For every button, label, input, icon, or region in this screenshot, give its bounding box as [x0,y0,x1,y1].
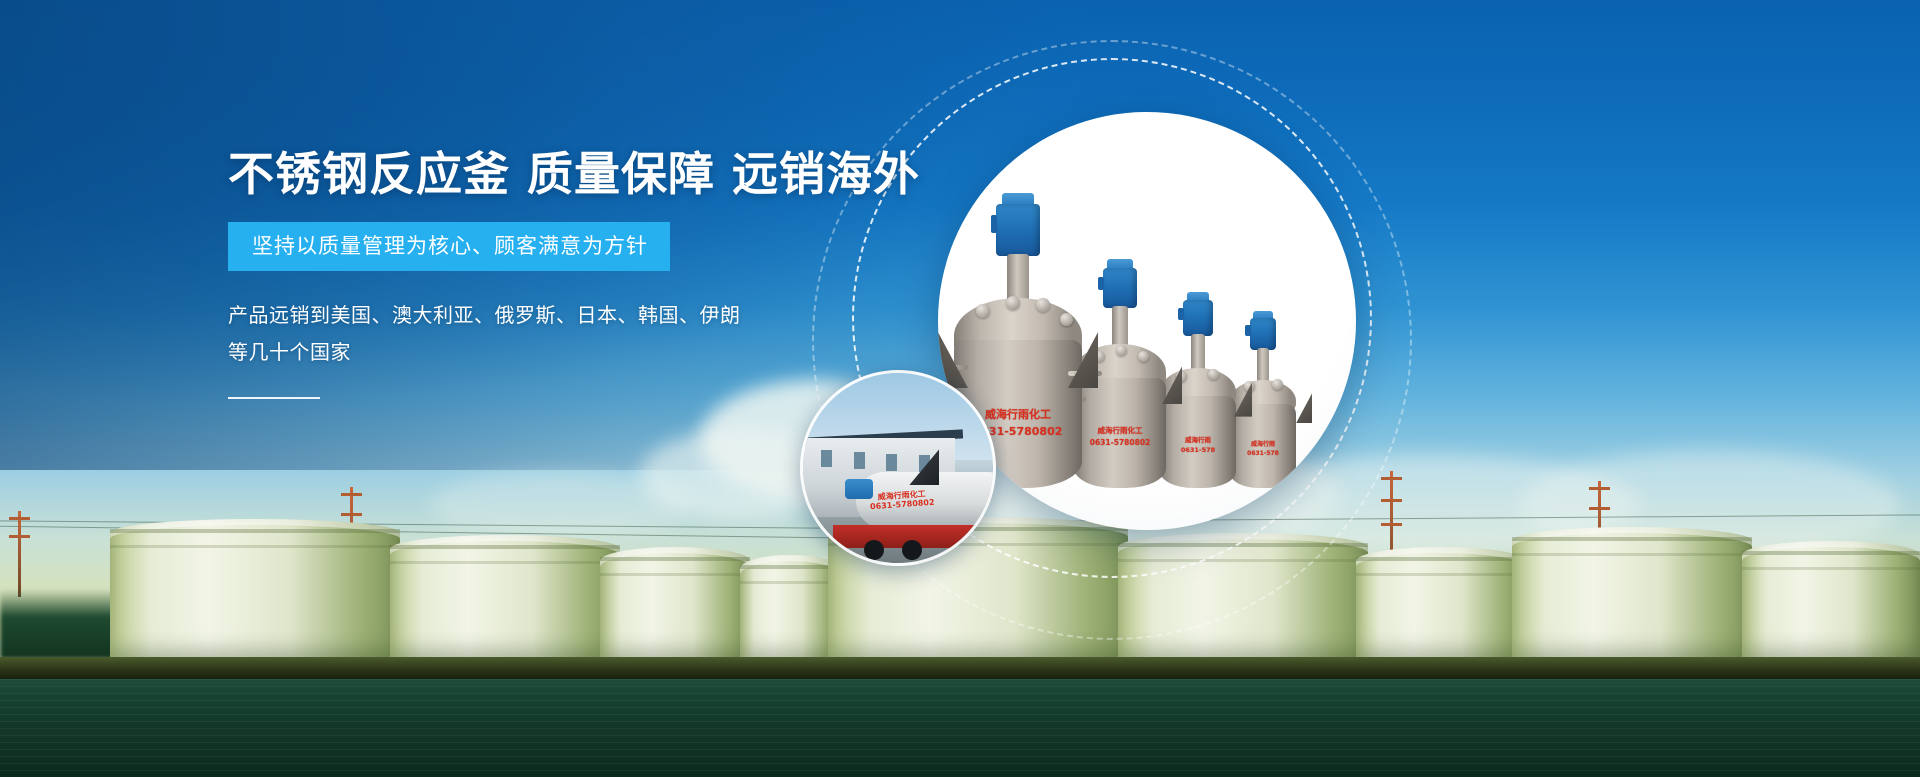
reactor-watermark-phone: 0631-5780802 [1090,438,1151,447]
storage-tank [1356,547,1526,659]
storage-tank [1742,541,1920,659]
truck-wheel [864,540,884,560]
storage-tank [740,555,840,659]
truck-wheel [902,540,922,560]
quay-wall [0,657,1920,681]
product-photo-circle: 威海行雨 0631-578 威海行雨 0631-578 [938,112,1356,530]
reactor-vessel: 威海行雨 0631-578 [1230,298,1296,488]
reactor-watermark-company: 威海行雨化工 [1098,425,1143,436]
storage-tank [390,535,620,659]
banner-body-line-2: 等几十个国家 [228,334,928,371]
storage-tank [1512,527,1752,659]
banner-copy: 不锈钢反应釜 质量保障 远销海外 坚持以质量管理为核心、顾客满意为方针 产品远销… [228,150,928,399]
banner-body-line-1: 产品远销到美国、澳大利亚、俄罗斯、日本、韩国、伊朗 [228,297,928,334]
hero-banner: 威海行雨 0631-578 威海行雨 0631-578 [0,0,1920,777]
reactor-watermark-phone: 0631-578 [1247,450,1279,457]
banner-subtitle-bar: 坚持以质量管理为核心、顾客满意为方针 [228,222,670,271]
reactor-vessel: 威海行雨 0631-578 [1160,278,1236,488]
decorative-rule [228,397,320,399]
banner-body-text: 产品远销到美国、澳大利亚、俄罗斯、日本、韩国、伊朗 等几十个国家 [228,297,928,371]
reactor-watermark-phone: 0631-578 [1181,446,1215,454]
factory-photo-circle: 威海行雨化工 0631-5780802 [800,370,996,566]
reactor-watermark-company: 威海行雨 [1251,439,1275,448]
transmission-tower [18,511,21,597]
storage-tank [110,519,400,659]
banner-headline: 不锈钢反应釜 质量保障 远销海外 [228,150,928,200]
reactor-watermark-company: 威海行雨 [1185,434,1211,444]
storage-tank [600,547,750,659]
factory-window [854,452,865,469]
factory-window [886,454,897,471]
product-watermark-company: 威海行雨化工 [985,406,1051,422]
factory-window [821,450,832,467]
water [0,679,1920,777]
